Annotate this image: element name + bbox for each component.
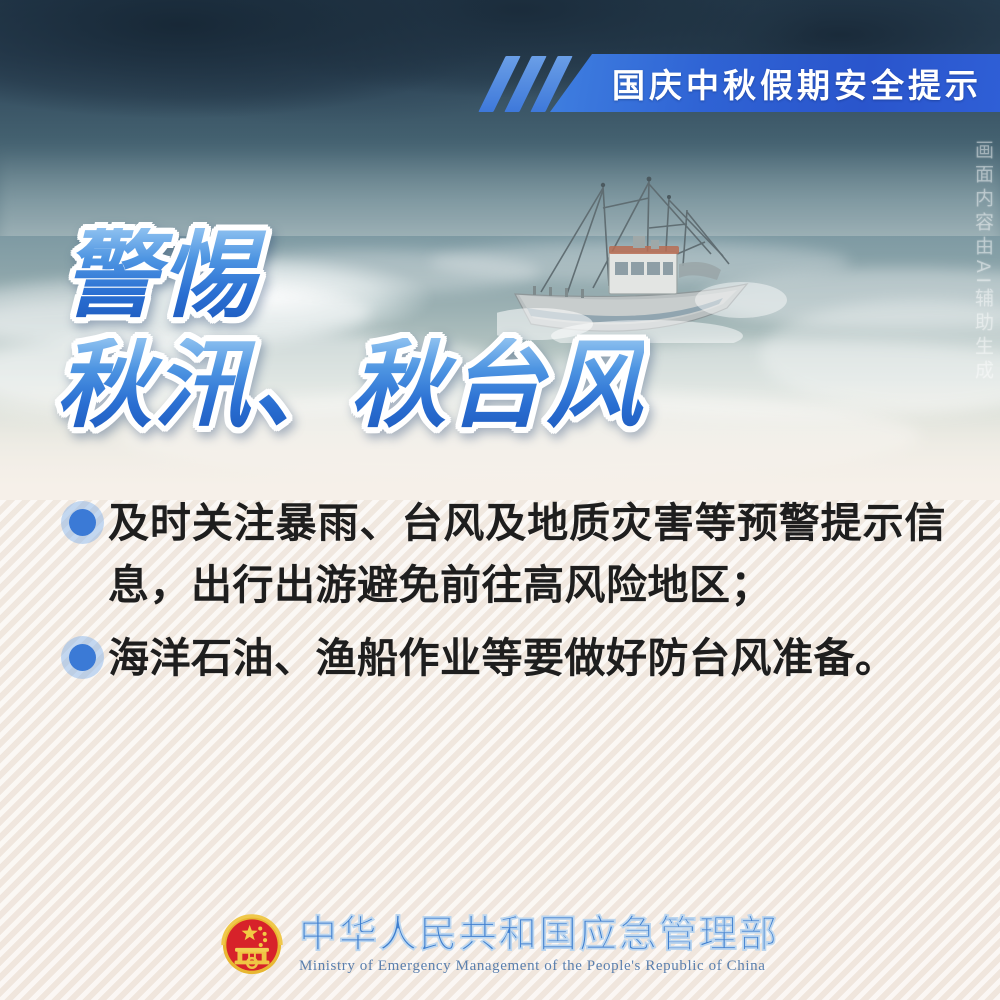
ribbon-bar: 国庆中秋假期安全提示 <box>550 54 1000 112</box>
ribbon-title: 国庆中秋假期安全提示 <box>612 59 982 107</box>
footer: 中华人民共和国应急管理部 Ministry of Emergency Manag… <box>0 914 1000 976</box>
footer-org-cn: 中华人民共和国应急管理部 <box>299 916 779 956</box>
list-item: 海洋石油、渔船作业等要做好防台风准备。 <box>56 627 946 689</box>
safety-tips-list: 及时关注暴雨、台风及地质灾害等预警提示信息，出行出游避免前往高风险地区； 海洋石… <box>56 492 946 699</box>
list-item: 及时关注暴雨、台风及地质灾害等预警提示信息，出行出游避免前往高风险地区； <box>56 492 946 617</box>
list-item-text: 及时关注暴雨、台风及地质灾害等预警提示信息，出行出游避免前往高风险地区； <box>108 492 946 617</box>
blue-dot-bullet-icon <box>69 644 96 671</box>
hero-title-line-2: 秋汛、秋台风 <box>56 338 644 434</box>
bullet-marker-wrap <box>56 492 108 536</box>
blue-dot-bullet-icon <box>69 509 96 536</box>
hero-title-line-1: 警惕 <box>62 228 644 324</box>
poster-canvas: 画面内容由AI辅助生成 国庆中秋假期安全提示 警惕 秋汛、秋台风 及时关注暴雨、… <box>0 0 1000 1000</box>
list-item-text: 海洋石油、渔船作业等要做好防台风准备。 <box>108 627 946 689</box>
header-ribbon: 国庆中秋假期安全提示 <box>480 54 1000 112</box>
hero-title: 警惕 秋汛、秋台风 <box>56 228 644 434</box>
national-emblem-of-china-icon <box>221 914 283 976</box>
ai-generated-watermark: 画面内容由AI辅助生成 <box>969 140 996 384</box>
footer-org-en: Ministry of Emergency Management of the … <box>299 958 779 975</box>
bullet-marker-wrap <box>56 627 108 671</box>
footer-text-block: 中华人民共和国应急管理部 Ministry of Emergency Manag… <box>299 916 779 974</box>
